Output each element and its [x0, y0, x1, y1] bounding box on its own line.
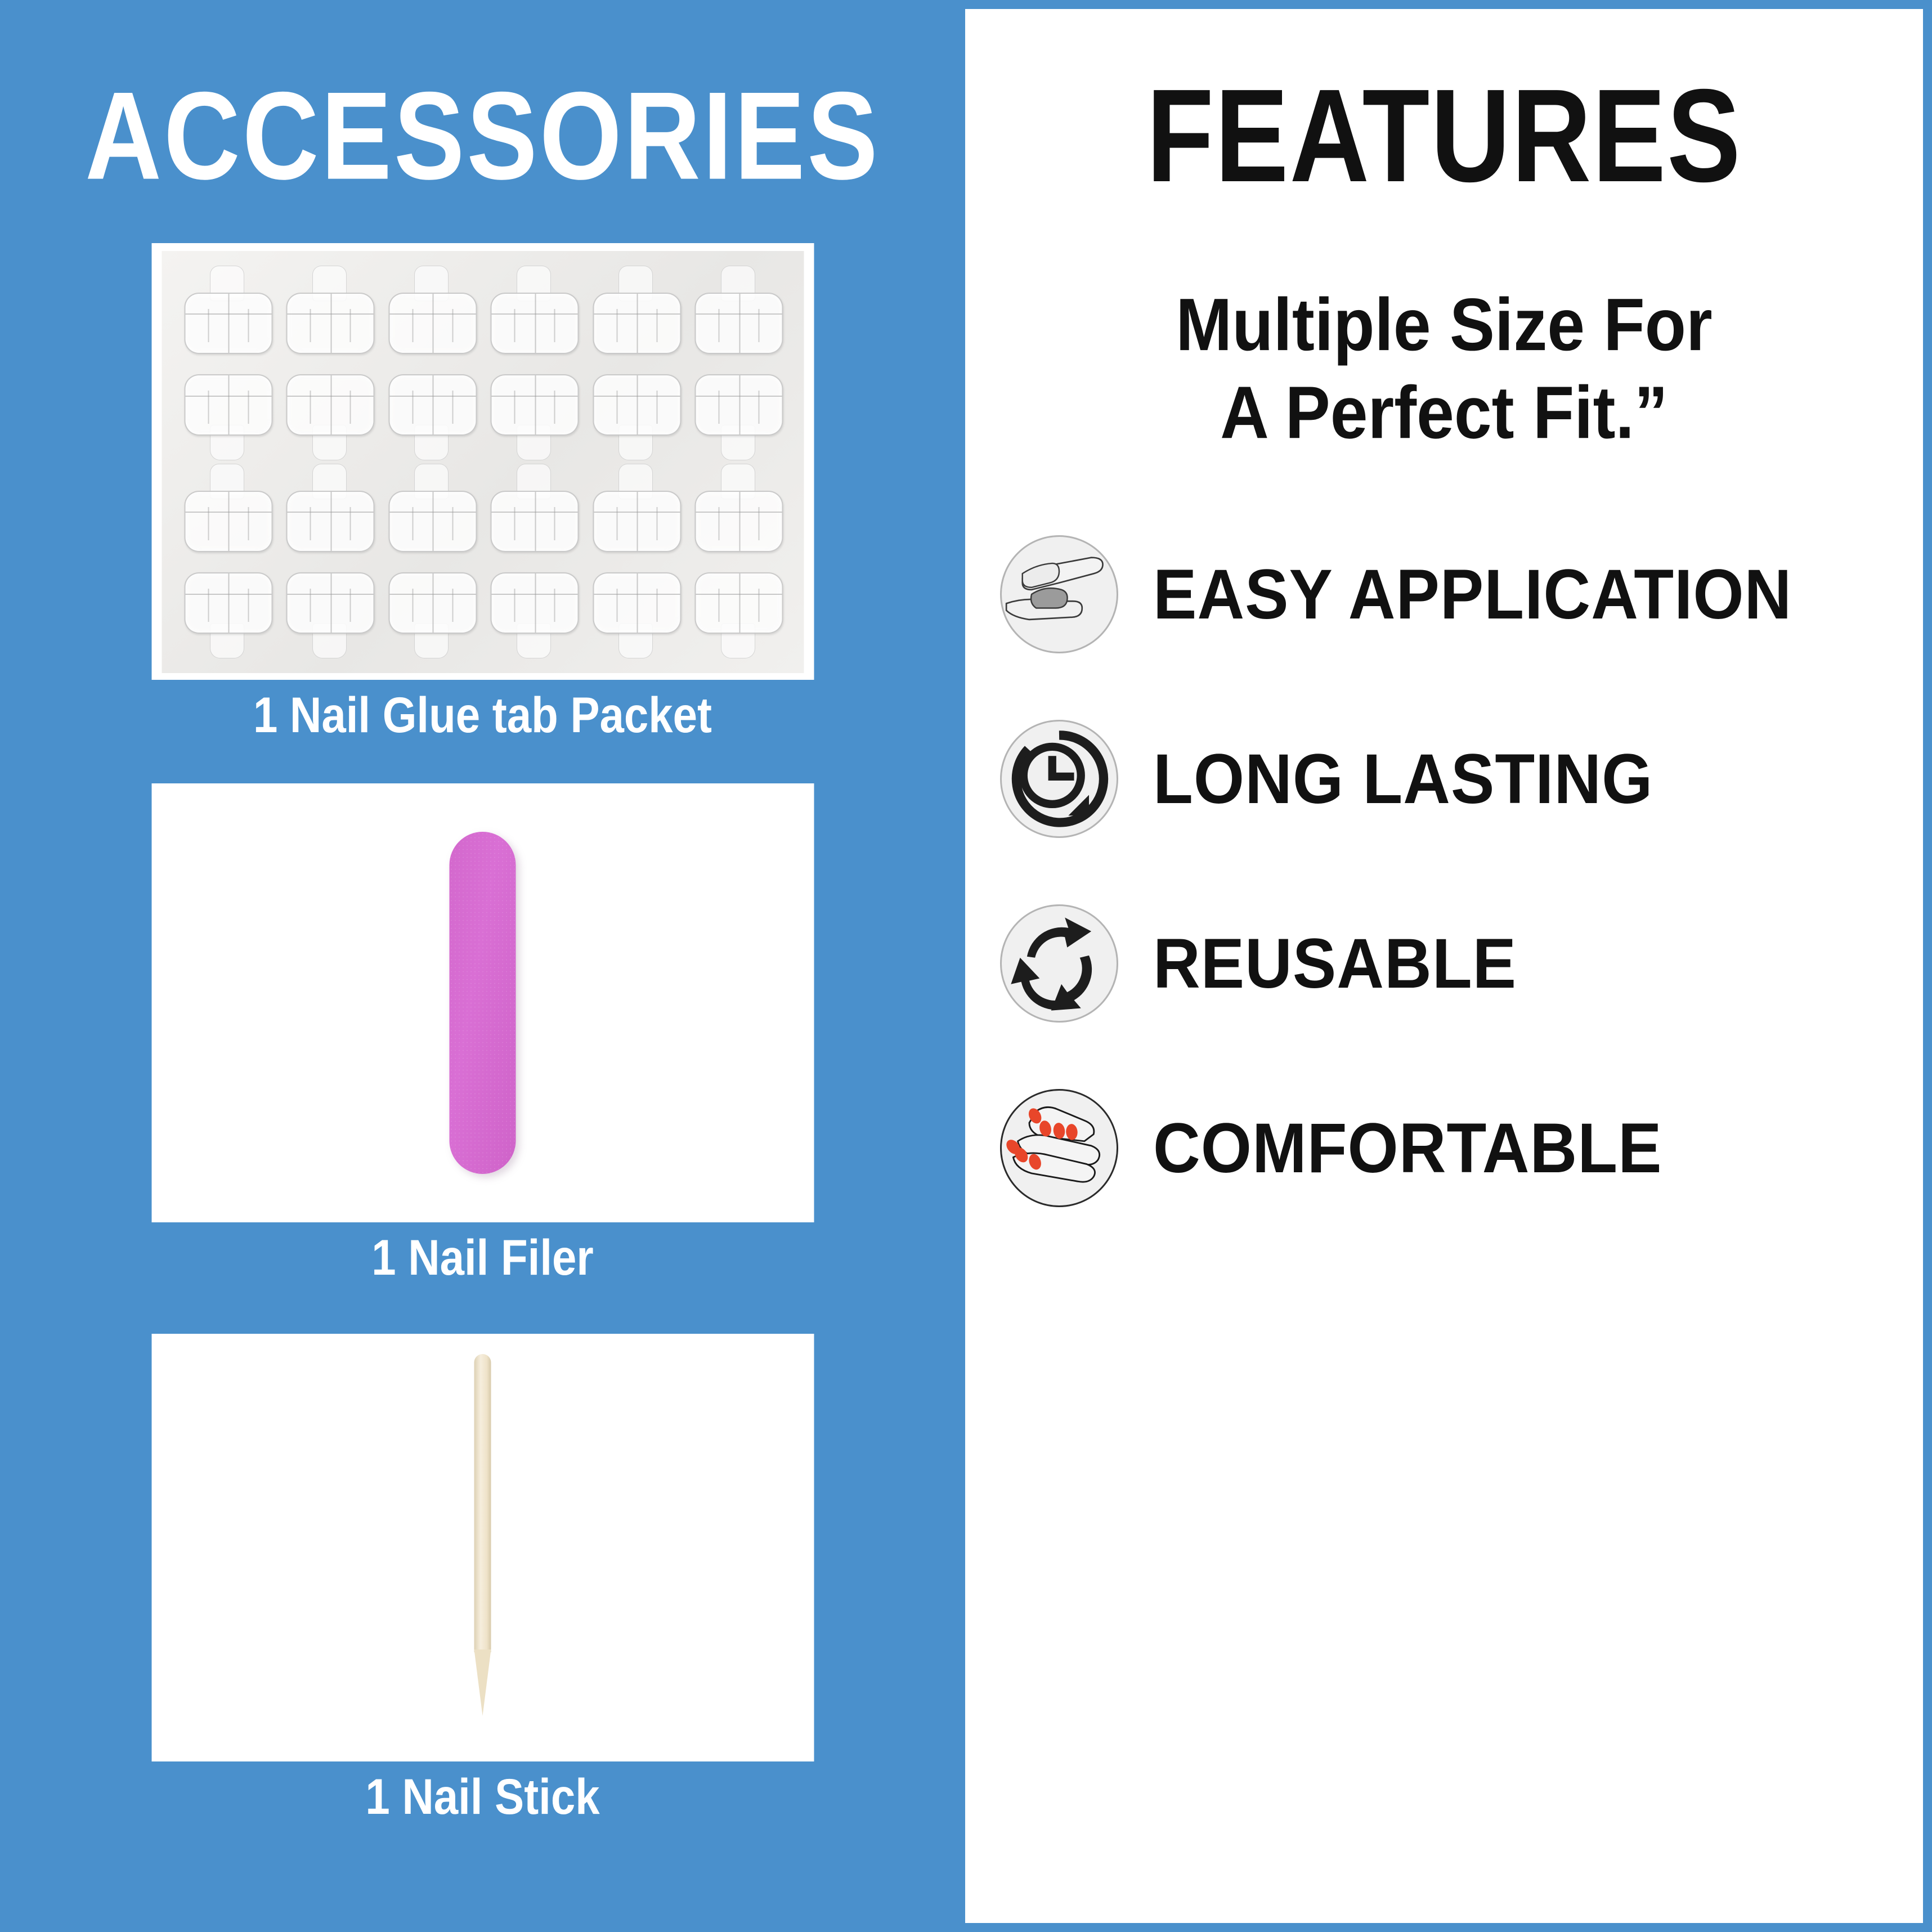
glue-tab: [587, 365, 685, 460]
accessories-panel: ACCESSORIES: [0, 0, 965, 1932]
glue-tab: [178, 563, 276, 658]
feature-label: LONG LASTING: [1153, 744, 1653, 814]
nail-filer-photo: [151, 783, 814, 1222]
accessory-item-nail-filer: 1 Nail Filer: [151, 783, 814, 1276]
tagline-line-2: A Perfect Fit.”: [1176, 369, 1712, 457]
glue-tab: [587, 563, 685, 658]
feature-label: EASY APPLICATION: [1153, 559, 1792, 630]
accessory-item-nail-stick: 1 Nail Stick: [151, 1334, 814, 1816]
glue-tab: [281, 464, 379, 559]
glue-tab: [587, 464, 685, 559]
glue-tab: [383, 464, 481, 559]
glue-tab-grid: [178, 266, 787, 658]
features-card: FEATURES Multiple Size For A Perfect Fit…: [965, 9, 1923, 1923]
glue-tab: [383, 365, 481, 460]
glue-tab: [689, 365, 787, 460]
glue-tab-sheet-photo: [151, 243, 814, 680]
glue-tab: [485, 266, 583, 361]
glue-tab: [383, 563, 481, 658]
glue-tab: [689, 464, 787, 559]
glue-tab: [485, 563, 583, 658]
nail-stick-object: [474, 1354, 491, 1709]
recycle-arrows-icon: [1000, 904, 1118, 1023]
infographic-board: ACCESSORIES: [0, 0, 1932, 1932]
accessory-caption: 1 Nail Filer: [151, 1232, 814, 1283]
accessory-caption: 1 Nail Stick: [151, 1772, 814, 1822]
glue-tab: [281, 563, 379, 658]
glue-tab: [178, 365, 276, 460]
feature-label: REUSABLE: [1153, 929, 1517, 999]
glue-tab-sheet: [162, 251, 804, 673]
glue-tab: [281, 365, 379, 460]
glue-tab: [383, 266, 481, 361]
feature-label: COMFORTABLE: [1153, 1113, 1662, 1184]
feature-row: REUSABLE: [1000, 904, 1923, 1023]
glue-tab: [178, 266, 276, 361]
glue-tab: [689, 266, 787, 361]
nail-stick-photo: [151, 1334, 814, 1761]
tagline-line-1: Multiple Size For: [1176, 281, 1712, 369]
manicured-hands-icon: [1000, 1089, 1118, 1207]
glue-tab: [485, 464, 583, 559]
accessory-item-glue-tabs: 1 Nail Glue tab Packet: [151, 243, 814, 734]
feature-list: EASY APPLICATION LONG LASTING: [965, 535, 1923, 1207]
glue-tab: [587, 266, 685, 361]
features-tagline: Multiple Size For A Perfect Fit.”: [1176, 281, 1712, 457]
nail-filer-object: [450, 832, 516, 1174]
feature-row: LONG LASTING: [1000, 720, 1923, 838]
feature-row: COMFORTABLE: [1000, 1089, 1923, 1207]
glue-tab: [689, 563, 787, 658]
feature-row: EASY APPLICATION: [1000, 535, 1923, 653]
accessory-caption: 1 Nail Glue tab Packet: [151, 690, 814, 740]
glue-tab: [485, 365, 583, 460]
glue-tab: [178, 464, 276, 559]
features-title: FEATURES: [1146, 70, 1742, 202]
features-panel: FEATURES Multiple Size For A Perfect Fit…: [965, 0, 1932, 1932]
glue-tab: [281, 266, 379, 361]
clock-rotate-icon: [1000, 720, 1118, 838]
accessories-title: ACCESSORIES: [85, 73, 880, 198]
finger-pressing-nail-icon: [1000, 535, 1118, 653]
